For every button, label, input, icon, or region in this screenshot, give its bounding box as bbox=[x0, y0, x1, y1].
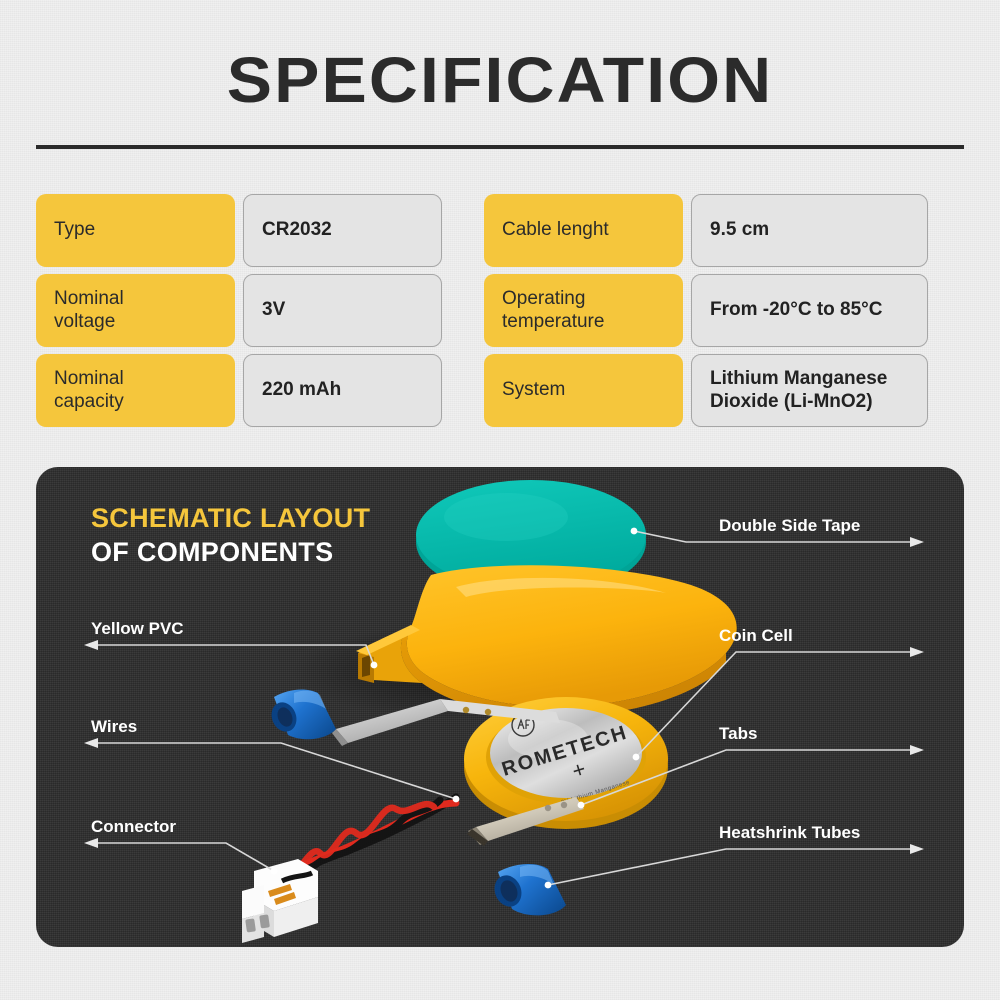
spec-value-system-line1: Lithium Manganese bbox=[710, 368, 887, 389]
leader-yellow-pvc bbox=[91, 645, 374, 665]
arrowhead-connector bbox=[84, 838, 98, 848]
arrowhead-yellow-pvc bbox=[84, 640, 98, 650]
spec-label-nominal-capacity: Nominal capacity bbox=[36, 354, 235, 427]
callout-label-double-side-tape: Double Side Tape bbox=[719, 516, 860, 536]
arrowhead-heatshrink-tubes bbox=[910, 844, 924, 854]
callout-label-yellow-pvc: Yellow PVC bbox=[91, 619, 184, 639]
spec-label-nominal-capacity-line1: Nominal bbox=[54, 368, 124, 389]
leader-wires bbox=[91, 743, 456, 799]
spec-value-nominal-capacity: 220 mAh bbox=[243, 354, 442, 427]
spec-value-system-line2: Dioxide (Li-MnO2) bbox=[710, 391, 873, 412]
infographic-root: SPECIFICATION Type CR2032 Cable lenght 9… bbox=[0, 0, 1000, 1000]
spec-label-operating-temperature-line1: Operating bbox=[502, 288, 585, 309]
callout-label-connector: Connector bbox=[91, 817, 176, 837]
leader-heatshrink-tubes bbox=[548, 849, 916, 885]
spec-label-nominal-voltage: Nominal voltage bbox=[36, 274, 235, 347]
column-gap bbox=[442, 194, 484, 274]
spec-label-cable-length: Cable lenght bbox=[484, 194, 683, 267]
anchor-connector bbox=[271, 868, 278, 875]
spec-label-nominal-voltage-line1: Nominal bbox=[54, 288, 124, 309]
schematic-panel: SCHEMATIC LAYOUT OF COMPONENTS bbox=[36, 467, 964, 947]
callout-label-heatshrink-tubes: Heatshrink Tubes bbox=[719, 823, 860, 843]
spec-value-system: Lithium Manganese Dioxide (Li-MnO2) bbox=[691, 354, 928, 427]
anchor-yellow-pvc bbox=[371, 662, 378, 669]
leader-tabs bbox=[581, 750, 916, 805]
callout-label-coin-cell: Coin Cell bbox=[719, 626, 793, 646]
anchor-wires bbox=[453, 796, 460, 803]
spec-label-operating-temperature-line2: temperature bbox=[502, 311, 604, 332]
specification-table: Type CR2032 Cable lenght 9.5 cm Nominal … bbox=[36, 194, 964, 434]
spec-value-nominal-voltage: 3V bbox=[243, 274, 442, 347]
anchor-heatshrink-tubes bbox=[545, 882, 552, 889]
spec-value-operating-temperature: From -20°C to 85°C bbox=[691, 274, 928, 347]
anchor-coin-cell bbox=[633, 754, 640, 761]
anchor-tabs bbox=[578, 802, 585, 809]
callout-label-tabs: Tabs bbox=[719, 724, 757, 744]
arrowhead-wires bbox=[84, 738, 98, 748]
anchor-double-side-tape bbox=[631, 528, 638, 535]
spec-label-nominal-voltage-line2: voltage bbox=[54, 311, 115, 332]
leader-connector bbox=[91, 843, 274, 871]
arrowhead-coin-cell bbox=[910, 647, 924, 657]
arrowhead-double-side-tape bbox=[910, 537, 924, 547]
leader-coin-cell bbox=[636, 652, 916, 757]
schematic-heading: SCHEMATIC LAYOUT OF COMPONENTS bbox=[91, 502, 370, 570]
spec-label-system: System bbox=[484, 354, 683, 427]
title-divider bbox=[36, 145, 964, 149]
column-gap bbox=[442, 354, 484, 434]
page-title: SPECIFICATION bbox=[0, 48, 1000, 112]
schematic-heading-line1: SCHEMATIC LAYOUT bbox=[91, 502, 370, 536]
schematic-heading-line2: OF COMPONENTS bbox=[91, 536, 370, 570]
callout-label-wires: Wires bbox=[91, 717, 137, 737]
spec-value-cable-length: 9.5 cm bbox=[691, 194, 928, 267]
spec-label-type: Type bbox=[36, 194, 235, 267]
spec-value-type: CR2032 bbox=[243, 194, 442, 267]
spec-label-operating-temperature: Operating temperature bbox=[484, 274, 683, 347]
column-gap bbox=[442, 274, 484, 354]
arrowhead-tabs bbox=[910, 745, 924, 755]
spec-label-nominal-capacity-line2: capacity bbox=[54, 391, 124, 412]
